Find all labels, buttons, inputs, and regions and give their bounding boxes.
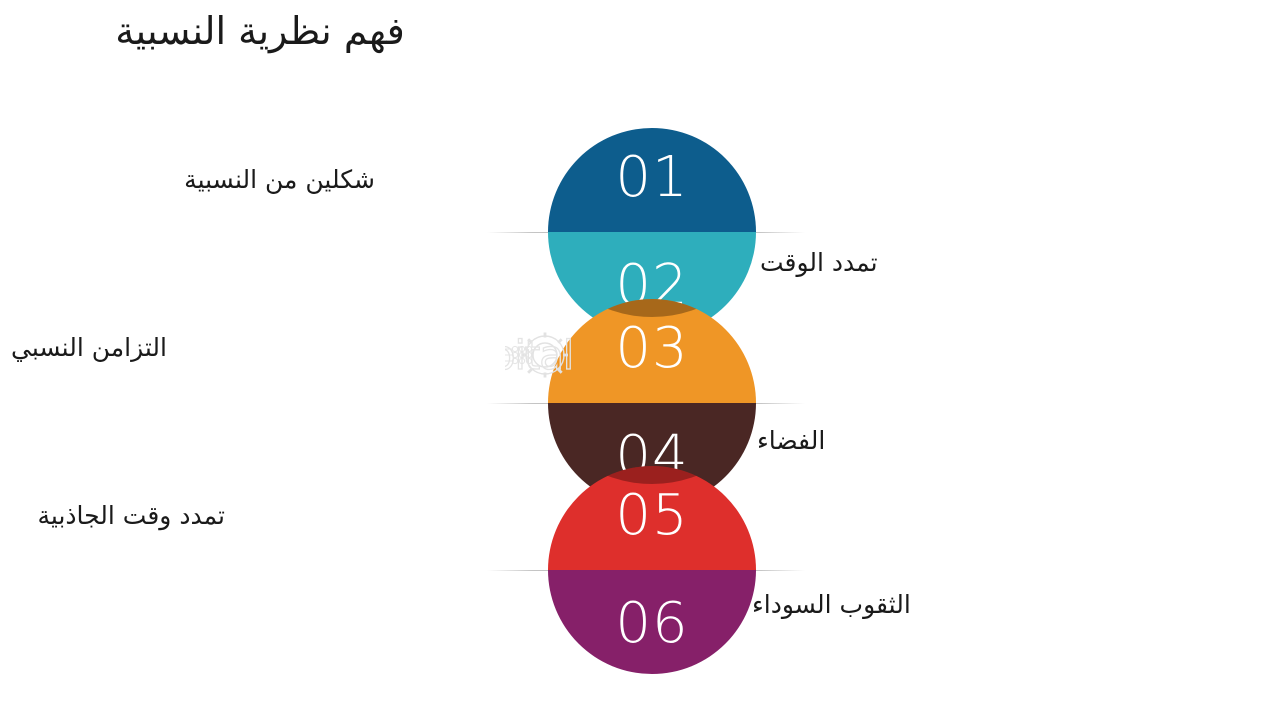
step-half-06[interactable]: 06 [548, 570, 756, 674]
step-half-01[interactable]: 01 [548, 128, 756, 232]
step-number-05: 05 [615, 488, 688, 544]
step-label-01: شكلين من النسبية [184, 165, 375, 195]
step-number-03: 03 [615, 321, 688, 377]
circle-group-3[interactable]: 05 06 [548, 466, 756, 674]
step-label-05: تمدد وقت الجاذبية [38, 501, 226, 531]
step-label-06: الثقوب السوداء [752, 590, 911, 620]
step-half-05[interactable]: 05 [548, 466, 756, 570]
step-label-02: تمدد الوقت [760, 248, 878, 278]
page-title: فهم نظرية النسبية [0, 8, 520, 56]
step-label-03: التزامن النسبي [11, 333, 167, 363]
step-half-03[interactable]: 03 [548, 299, 756, 403]
infographic-canvas: فهم نظرية النسبية [0, 0, 1280, 714]
step-label-04: الفضاء [757, 426, 825, 456]
step-number-06: 06 [615, 596, 688, 652]
step-number-01: 01 [615, 150, 688, 206]
